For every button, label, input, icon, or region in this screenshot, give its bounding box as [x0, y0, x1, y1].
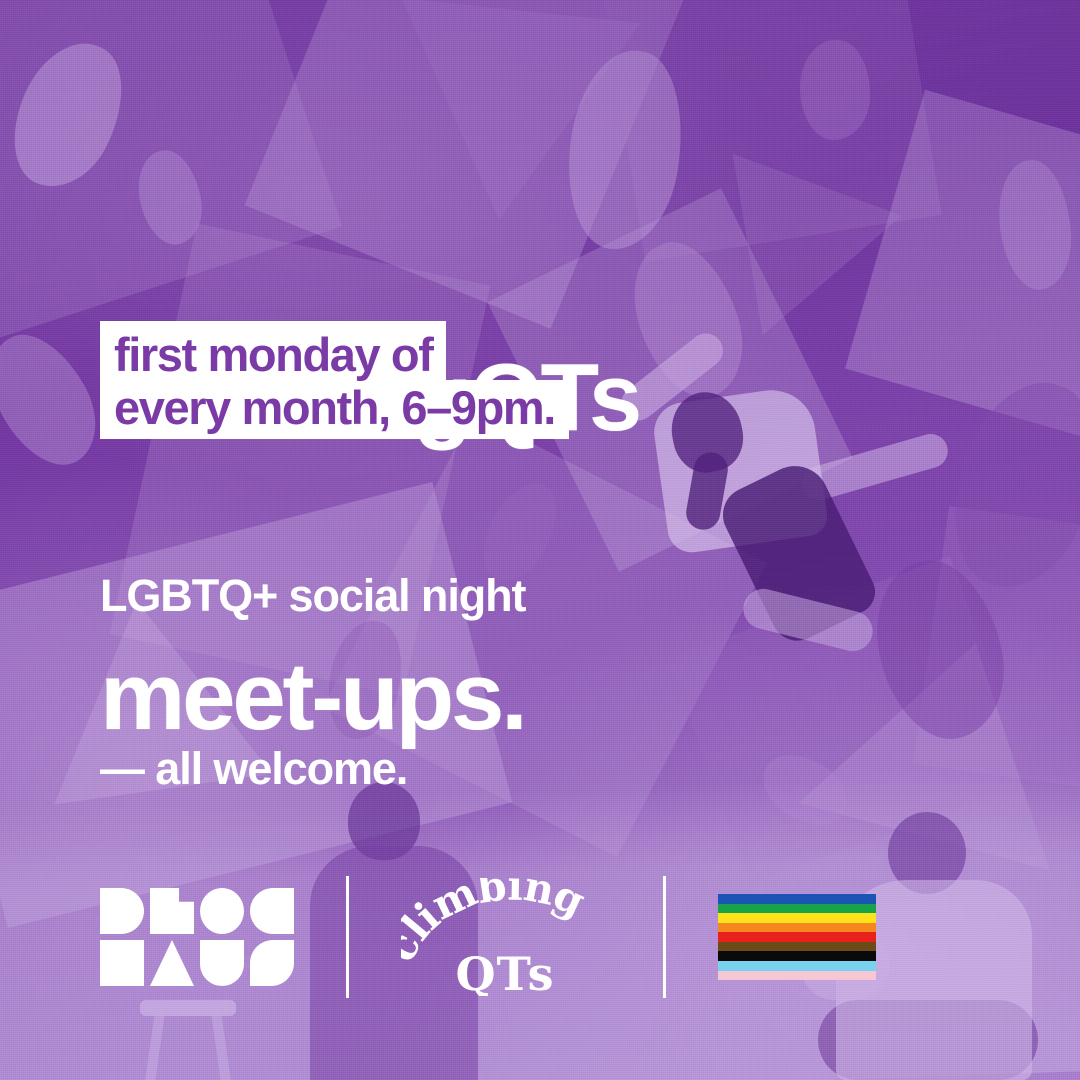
logo-divider-2: [663, 876, 666, 998]
poster-content: climbingQTs meet-ups. first monday of ev…: [0, 0, 1080, 1080]
blochaus-letter-l-icon: [150, 888, 194, 934]
schedule-banner: first monday of every month, 6–9pm.: [100, 321, 569, 439]
blochaus-row-top: [100, 888, 294, 934]
blochaus-letter-o-icon: [200, 888, 244, 934]
pride-flag-icon: [718, 894, 876, 980]
blochaus-letter-a-icon: [150, 940, 194, 986]
schedule-line-1: first monday of: [100, 321, 446, 380]
flag-stripe-blue: [718, 894, 876, 904]
flag-stripe-yellow: [718, 913, 876, 923]
flag-stripe-light-blue: [718, 961, 876, 971]
flag-stripe-red: [718, 932, 876, 942]
blochaus-letter-b-icon: [100, 888, 144, 934]
climbingqts-base-text: QTs: [456, 947, 555, 996]
flag-stripe-orange: [718, 923, 876, 933]
schedule-line-2: every month, 6–9pm.: [100, 380, 569, 439]
poster-canvas: climbingQTs meet-ups. first monday of ev…: [0, 0, 1080, 1080]
climbingqts-logo[interactable]: climbing QTs: [401, 878, 611, 996]
blochaus-logo[interactable]: [100, 888, 294, 986]
footer-logo-bar: climbing QTs: [100, 872, 790, 1002]
flag-stripe-black: [718, 951, 876, 961]
event-description: LGBTQ+ social night — all welcome.: [100, 452, 525, 913]
flag-stripe-green: [718, 904, 876, 914]
flag-stripe-pink: [718, 971, 876, 981]
blochaus-row-bottom: [100, 940, 294, 986]
blochaus-letter-h-icon: [100, 940, 144, 986]
blochaus-letter-c-icon: [250, 888, 294, 934]
blochaus-letter-u-icon: [200, 940, 244, 986]
subhead-line-1: LGBTQ+ social night: [100, 567, 525, 625]
blochaus-letter-s-icon: [250, 940, 294, 986]
flag-stripe-brown: [718, 942, 876, 952]
logo-divider-1: [346, 876, 349, 998]
subhead-line-2: — all welcome.: [100, 740, 525, 798]
